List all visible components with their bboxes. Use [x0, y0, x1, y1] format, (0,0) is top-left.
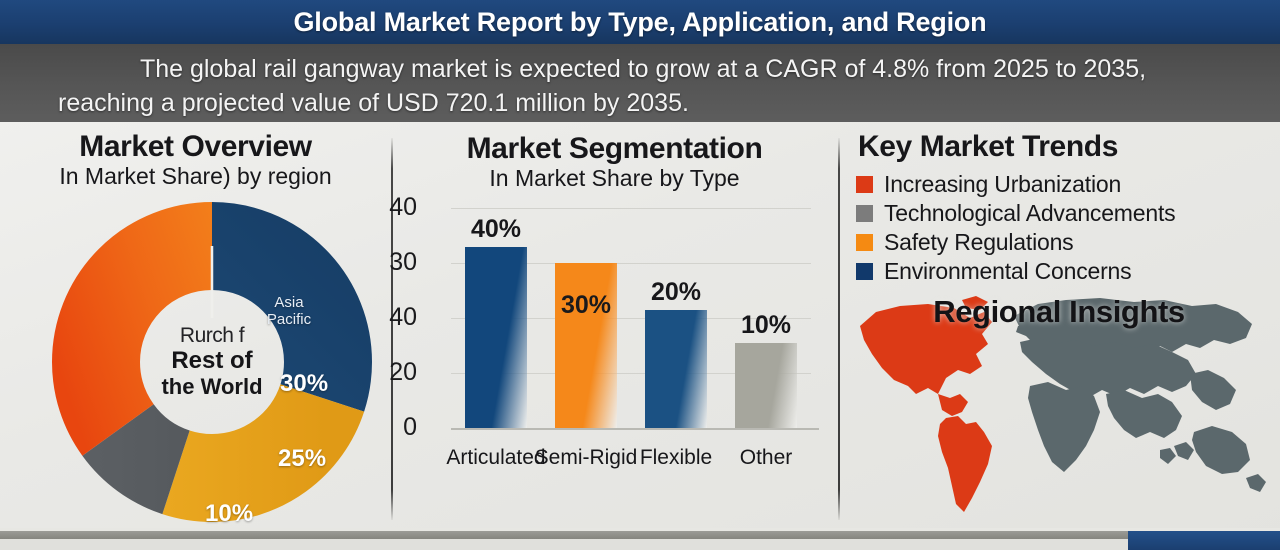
- bar-chart-value-label: 30%: [536, 291, 636, 320]
- legend-swatch-icon: [856, 263, 873, 280]
- footer-accent-blue: [1128, 531, 1280, 550]
- legend-item-label: Increasing Urbanization: [884, 171, 1121, 198]
- bar-chart-value-label: 40%: [446, 215, 546, 244]
- legend-item[interactable]: Safety Regulations: [856, 228, 1280, 257]
- bar-chart-y-tick: 30: [369, 248, 417, 277]
- subtitle-line-1: The global rail gangway market is expect…: [140, 52, 1146, 86]
- legend-swatch-icon: [856, 205, 873, 222]
- segmentation-subtitle: In Market Share by Type: [391, 165, 838, 192]
- bar-chart-y-tick: 40: [369, 303, 417, 332]
- regional-insights-title: Regional Insights: [838, 294, 1280, 330]
- panel-key-market-trends: Key Market Trends Increasing Urbanizatio…: [838, 122, 1280, 528]
- bar-chart-plot-area: 40304020040%Articulated30%Semi-Rigid20%F…: [451, 208, 811, 428]
- bar-chart-value-label: 20%: [626, 278, 726, 307]
- bar-chart-bar[interactable]: [465, 247, 527, 429]
- bar-chart: 40304020040%Articulated30%Semi-Rigid20%F…: [391, 194, 838, 528]
- bar-chart-gridline: [451, 208, 811, 209]
- trends-legend-list: Increasing UrbanizationTechnological Adv…: [856, 170, 1280, 286]
- bar-chart-axis-baseline: [451, 428, 819, 430]
- footer-accent-gray: [0, 531, 1128, 539]
- bar-chart-value-label: 10%: [716, 311, 816, 340]
- body-area: Market Overview In Market Share) by regi…: [0, 122, 1280, 528]
- overview-subtitle: In Market Share) by region: [0, 163, 391, 190]
- page-title: Global Market Report by Type, Applicatio…: [294, 7, 987, 38]
- bar-chart-y-tick: 40: [369, 193, 417, 222]
- trends-title: Key Market Trends: [858, 130, 1118, 164]
- legend-item-label: Environmental Concerns: [884, 258, 1131, 285]
- donut-chart: Rurch f Rest of the World AsiaPacific 30…: [52, 202, 372, 522]
- legend-item-label: Technological Advancements: [884, 200, 1175, 227]
- legend-item[interactable]: Technological Advancements: [856, 199, 1280, 228]
- footer-strip: [0, 528, 1280, 550]
- legend-swatch-icon: [856, 234, 873, 251]
- footer-base: [0, 539, 1128, 550]
- header-banner: Global Market Report by Type, Applicatio…: [0, 0, 1280, 44]
- bar-chart-x-tick: Other: [706, 446, 826, 470]
- infographic-root: Global Market Report by Type, Applicatio…: [0, 0, 1280, 550]
- legend-item-label: Safety Regulations: [884, 229, 1073, 256]
- overview-title: Market Overview: [0, 130, 391, 164]
- legend-swatch-icon: [856, 176, 873, 193]
- bar-chart-y-tick: 0: [369, 413, 417, 442]
- subtitle-band: The global rail gangway market is expect…: [0, 44, 1280, 122]
- subtitle-line-2: reaching a projected value of USD 720.1 …: [58, 86, 689, 120]
- segmentation-title: Market Segmentation: [391, 132, 838, 166]
- legend-item[interactable]: Increasing Urbanization: [856, 170, 1280, 199]
- bar-chart-bar[interactable]: [735, 343, 797, 428]
- bar-chart-bar[interactable]: [555, 263, 617, 428]
- bar-chart-y-tick: 20: [369, 358, 417, 387]
- panel-market-segmentation: Market Segmentation In Market Share by T…: [391, 122, 838, 528]
- panel-market-overview: Market Overview In Market Share) by regi…: [0, 122, 391, 528]
- donut-chart-svg: [52, 202, 372, 522]
- bar-chart-bar[interactable]: [645, 310, 707, 428]
